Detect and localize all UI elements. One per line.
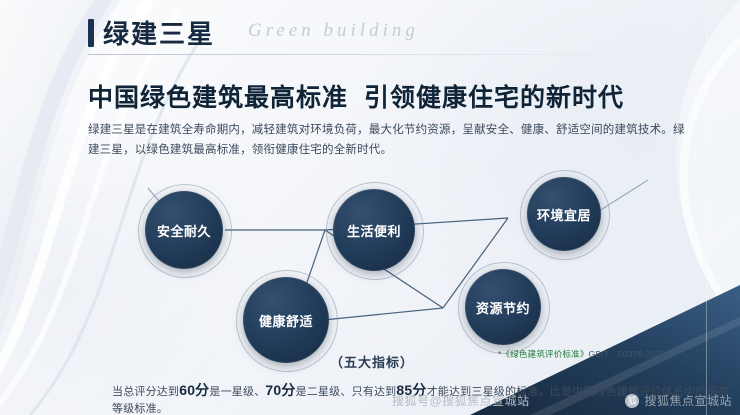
title-divider [88,54,698,55]
standard-note-code: GB/T 50378-2019》 [589,349,674,359]
headline-left: 中国绿色建筑最高标准 [88,84,348,112]
slide-root: 绿建三星 Green building 中国绿色建筑最高标准引领健康住宅的新时代… [0,0,740,415]
diagram-node-label-comfort: 健康舒适 [259,311,313,330]
standard-reference-note: *《绿色建筑评价标准》GB/T 50378-2019》 [498,348,674,360]
body-paragraph: 绿建三星是在建筑全寿命期内，减轻建筑对环境负荷，最大化节约资源，呈献安全、健康、… [88,120,694,160]
diagram-node-comfort[interactable]: 健康舒适 [243,277,329,363]
scoring-note-part2: 是一星级、 [209,386,265,398]
headline: 中国绿色建筑最高标准引领健康住宅的新时代 [88,78,624,114]
diagram-node-label-convenience: 生活便利 [347,221,401,240]
diagram-node-label-safety: 安全耐久 [157,221,211,240]
scoring-note-part1: 当总评分达到 [112,386,179,398]
scoring-note-score2: 70分 [265,382,295,398]
decorative-vertical-line [706,0,707,415]
title-accent-bar [88,19,94,47]
diagram-node-safety[interactable]: 安全耐久 [145,191,223,269]
standard-note-name: 《绿色建筑评价标准》 [502,349,589,359]
watermark-right: 狐 搜狐焦点宣城站 [625,392,732,409]
headline-right: 引领健康住宅的新时代 [364,84,624,112]
sohu-logo-icon: 狐 [625,394,639,408]
diagram-node-resource[interactable]: 资源节约 [465,269,541,345]
scoring-note-part3: 是二星级、只有达到 [296,386,397,398]
scoring-note-score1: 60分 [179,382,209,398]
watermark-right-label: 搜狐焦点宣城站 [644,392,732,409]
five-indicator-diagram: 安全耐久 生活便利 环境宜居 健康舒适 资源节约 [88,168,698,368]
diagram-node-label-environment: 环境宜居 [537,205,591,224]
diagram-node-label-resource: 资源节约 [476,298,530,317]
diagram-caption: （五大指标） [330,352,414,371]
title-text: 绿建三星 [103,14,215,51]
title-subtext-english: Green building [248,20,419,42]
page-title: 绿建三星 [88,14,215,51]
diagram-node-environment[interactable]: 环境宜居 [527,177,601,251]
diagram-node-convenience[interactable]: 生活便利 [333,189,415,271]
watermark-center: 搜狐号@搜狐焦点宣城站 [392,392,530,409]
